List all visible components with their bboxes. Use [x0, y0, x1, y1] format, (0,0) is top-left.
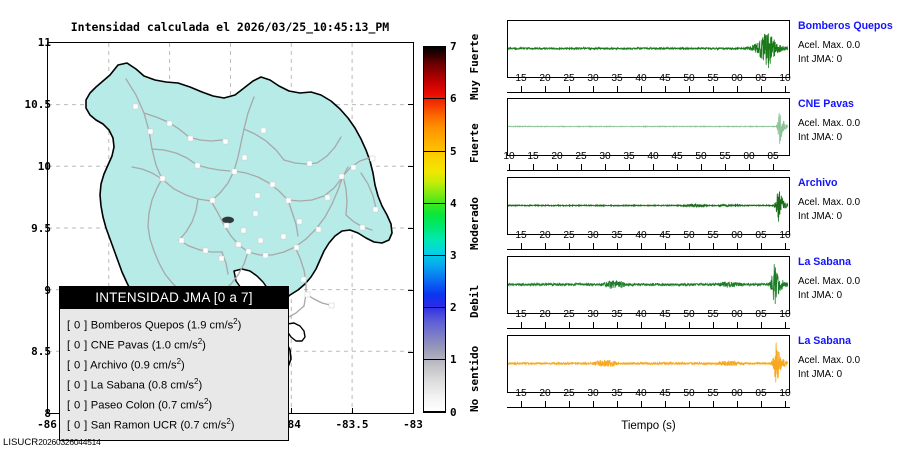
map-panel: Intensidad calculada el 2026/03/25_10:45…: [0, 0, 470, 460]
station-jma-intensity: Int JMA: 0: [798, 131, 910, 145]
seismogram-trace-3[interactable]: [507, 256, 790, 314]
axis-line: [507, 407, 790, 408]
waveform-polyline: [508, 33, 788, 68]
station-jma-intensity: Int JMA: 0: [798, 53, 910, 67]
footer-watermark: LISUCR20260326044514: [3, 437, 101, 448]
waveform-polyline: [508, 191, 788, 221]
xtick-label: 20: [539, 388, 550, 399]
station-max-accel: Acel. Max. 0.0: [798, 39, 910, 53]
seismogram-meta-4: La Sabana Acel. Max. 0.0 Int JMA: 0: [798, 335, 910, 381]
intensity-colorbar: [423, 46, 446, 412]
xtick-label: 40: [635, 388, 646, 399]
colorbar-category-no-sentido: No sentido: [468, 346, 481, 412]
legend-paren-close: ): [231, 420, 235, 432]
legend-intensity-bracket: [ 0 ]: [67, 340, 88, 352]
legend-intensity-bracket: [ 0 ]: [67, 400, 88, 412]
xtick-label: 10: [779, 73, 790, 84]
map-xtick-mark: [47, 408, 48, 414]
colorbar-tick-mark: [423, 98, 446, 99]
xtick-label: 05: [755, 73, 766, 84]
xtick-label: 30: [587, 73, 598, 84]
waveform-polyline: [508, 343, 788, 383]
xtick-label: 10: [779, 309, 790, 320]
colorbar-tick-label-4: 4: [450, 197, 457, 210]
xtick-label: 00: [731, 73, 742, 84]
map-xtick-label-5: -83.5: [335, 418, 368, 431]
seismogram-xaxis-3: 15 20 25 30 35 40 45 50 55 00 05 10: [507, 315, 790, 331]
colorbar-tick-label-1: 1: [450, 353, 457, 366]
seismogram-xaxis-2: 15 20 25 30 35 40 45 50 55 00 05 10: [507, 236, 790, 252]
seismogram-panel: 15 20 25 30 35 40 45 50 55 00 05 10 Bomb…: [500, 0, 910, 460]
xtick-label: 55: [719, 151, 730, 162]
seismogram-trace-2[interactable]: [507, 177, 790, 235]
xtick-label: 10: [503, 151, 514, 162]
map-ytick-mark: [408, 228, 414, 229]
xtick-label: 25: [563, 309, 574, 320]
legend-row: [ 0 ] Bomberos Quepos (1.9 cm/s2): [67, 314, 288, 334]
map-ytick-mark: [408, 104, 414, 105]
waveform-svg: [508, 178, 788, 233]
xtick-label: 35: [611, 309, 622, 320]
map-ytick-label-2: 9: [44, 284, 51, 297]
xtick-label: 00: [731, 230, 742, 241]
xtick-label: 30: [587, 388, 598, 399]
map-ytick-label-6: 11: [38, 36, 51, 49]
seismogram-trace-4[interactable]: [507, 335, 790, 393]
legend-accel-value: (1.9 cm/s: [187, 320, 233, 332]
xtick-label: 35: [611, 73, 622, 84]
xtick-label: 15: [515, 388, 526, 399]
legend-row: [ 0 ] Archivo (0.9 cm/s2): [67, 354, 288, 374]
xtick-label: 30: [599, 151, 610, 162]
xtick-label: 55: [707, 388, 718, 399]
seismogram-meta-1: CNE Pavas Acel. Max. 0.0 Int JMA: 0: [798, 98, 910, 144]
legend-accel-value: (1.0 cm/s: [152, 340, 198, 352]
legend-paren-close: ): [238, 320, 242, 332]
legend-paren-close: ): [198, 380, 202, 392]
legend-station-name: San Ramon UCR: [91, 420, 177, 432]
map-xtick-mark: [291, 408, 292, 414]
xtick-label: 15: [515, 309, 526, 320]
legend-row: [ 0 ] La Sabana (0.8 cm/s2): [67, 374, 288, 394]
legend-row: [ 0 ] Paseo Colon (0.7 cm/s2): [67, 394, 288, 414]
xtick-label: 25: [563, 388, 574, 399]
legend-intensity-bracket: [ 0 ]: [67, 320, 88, 332]
colorbar-category-fuerte: Fuerte: [468, 123, 481, 163]
xtick-label: 05: [767, 151, 778, 162]
station-name: La Sabana: [798, 256, 910, 269]
map-ytick-mark: [408, 290, 414, 291]
seismogram-xaxis-1: 10 15 20 25 30 35 40 45 50 55 00 05: [507, 157, 790, 173]
xtick-label: 55: [707, 309, 718, 320]
map-ytick-label-5: 10.5: [25, 98, 52, 111]
colorbar-tick-label-7: 7: [450, 40, 457, 53]
legend-station-name: Bomberos Quepos: [91, 320, 184, 332]
colorbar-tick-mark: [423, 255, 446, 256]
station-jma-intensity: Int JMA: 0: [798, 368, 910, 382]
xtick-label: 40: [647, 151, 658, 162]
axis-line: [507, 249, 790, 250]
xtick-label: 50: [695, 151, 706, 162]
xtick-label: 25: [575, 151, 586, 162]
colorbar-tick-label-3: 3: [450, 249, 457, 262]
intensity-legend-box: INTENSIDAD JMA [0 a 7] [ 0 ] Bomberos Qu…: [59, 286, 289, 441]
xtick-label: 45: [659, 230, 670, 241]
xtick-label: 50: [683, 73, 694, 84]
legend-intensity-bracket: [ 0 ]: [67, 420, 88, 432]
waveform-svg: [508, 257, 788, 312]
xtick-label: 10: [779, 230, 790, 241]
legend-paren-close: ): [181, 360, 185, 372]
intensity-colorbar-panel: 0 1 2 3 4 5 6 7 No sentido Debil Moderad…: [420, 0, 500, 460]
legend-station-name: La Sabana: [91, 380, 145, 392]
seismogram-xaxis-title: Tiempo (s): [507, 420, 790, 432]
xtick-label: 15: [515, 230, 526, 241]
colorbar-category-moderado: Moderado: [468, 197, 481, 250]
seismogram-meta-0: Bomberos Quepos Acel. Max. 0.0 Int JMA: …: [798, 20, 910, 66]
legend-row: [ 0 ] CNE Pavas (1.0 cm/s2): [67, 334, 288, 354]
seismogram-meta-3: La Sabana Acel. Max. 0.0 Int JMA: 0: [798, 256, 910, 302]
station-max-accel: Acel. Max. 0.0: [798, 275, 910, 289]
legend-station-name: Paseo Colon: [91, 400, 155, 412]
xtick-label: 20: [539, 73, 550, 84]
colorbar-category-muy-fuerte: Muy Fuerte: [468, 34, 481, 100]
colorbar-tick-mark: [423, 46, 446, 47]
seismogram-meta-2: Archivo Acel. Max. 0.0 Int JMA: 0: [798, 177, 910, 223]
colorbar-tick-mark: [423, 151, 446, 152]
xtick-label: 00: [743, 151, 754, 162]
xtick-label: 35: [611, 230, 622, 241]
colorbar-tick-label-2: 2: [450, 301, 457, 314]
colorbar-tick-mark: [423, 203, 446, 204]
xtick-label: 45: [659, 388, 670, 399]
xtick-label: 15: [527, 151, 538, 162]
legend-intensity-bracket: [ 0 ]: [67, 380, 88, 392]
xtick-label: 25: [563, 73, 574, 84]
colorbar-tick-mark: [423, 307, 446, 308]
station-name: Archivo: [798, 177, 910, 190]
map-xtick-mark: [413, 408, 414, 414]
xtick-label: 30: [587, 309, 598, 320]
xtick-label: 50: [683, 388, 694, 399]
map-xtick-mark: [352, 408, 353, 414]
xtick-label: 20: [539, 230, 550, 241]
legend-title: INTENSIDAD JMA [0 a 7]: [60, 287, 288, 309]
seismogram-xaxis-4: 15 20 25 30 35 40 45 50 55 00 05 10: [507, 394, 790, 410]
page-title: Intensidad calculada el 2026/03/25_10:45…: [0, 20, 460, 34]
legend-station-name: Archivo: [90, 360, 127, 372]
seismogram-trace-1[interactable]: [507, 98, 790, 156]
xtick-label: 00: [731, 309, 742, 320]
legend-station-name: CNE Pavas: [91, 340, 149, 352]
legend-accel-value: (0.7 cm/s: [180, 420, 226, 432]
xtick-label: 55: [707, 230, 718, 241]
station-name: Bomberos Quepos: [798, 20, 910, 33]
waveform-svg: [508, 336, 788, 391]
xtick-label: 40: [635, 73, 646, 84]
footer-org: LISUCR: [3, 437, 38, 448]
station-name: CNE Pavas: [798, 98, 910, 111]
xtick-label: 55: [707, 73, 718, 84]
xtick-label: 35: [611, 388, 622, 399]
map-ytick-mark: [408, 42, 414, 43]
seismogram-xaxis-0: 15 20 25 30 35 40 45 50 55 00 05 10: [507, 79, 790, 95]
station-max-accel: Acel. Max. 0.0: [798, 354, 910, 368]
colorbar-tick-label-0: 0: [450, 406, 457, 419]
colorbar-tick-label-6: 6: [450, 92, 457, 105]
xtick-label: 40: [635, 309, 646, 320]
xtick-label: 15: [515, 73, 526, 84]
station-jma-intensity: Int JMA: 0: [798, 210, 910, 224]
xtick-label: 45: [659, 73, 670, 84]
colorbar-category-debil: Debil: [468, 285, 481, 318]
legend-paren-close: ): [202, 340, 206, 352]
waveform-polyline: [508, 264, 788, 304]
axis-line: [507, 92, 790, 93]
colorbar-tick-label-5: 5: [450, 145, 457, 158]
map-ytick-label-4: 10: [38, 160, 51, 173]
xtick-label: 45: [659, 309, 670, 320]
xtick-label: 30: [587, 230, 598, 241]
xtick-label: 40: [635, 230, 646, 241]
legend-accel-value: (0.9 cm/s: [131, 360, 177, 372]
map-ytick-mark: [408, 166, 414, 167]
xtick-label: 05: [755, 230, 766, 241]
legend-intensity-bracket: [ 0 ]: [67, 360, 88, 372]
xtick-label: 10: [779, 388, 790, 399]
map-xtick-label-0: -86: [37, 418, 57, 431]
map-ytick-mark: [408, 352, 414, 353]
xtick-label: 20: [539, 309, 550, 320]
axis-line: [507, 328, 790, 329]
station-max-accel: Acel. Max. 0.0: [798, 117, 910, 131]
station-jma-intensity: Int JMA: 0: [798, 289, 910, 303]
waveform-svg: [508, 99, 788, 154]
seismogram-trace-0[interactable]: [507, 20, 790, 78]
station-max-accel: Acel. Max. 0.0: [798, 196, 910, 210]
xtick-label: 50: [683, 230, 694, 241]
legend-row: [ 0 ] San Ramon UCR (0.7 cm/s2): [67, 414, 288, 434]
xtick-label: 35: [623, 151, 634, 162]
xtick-label: 05: [755, 309, 766, 320]
xtick-label: 25: [563, 230, 574, 241]
footer-timestamp-code: 20260326044514: [38, 437, 100, 447]
map-ytick-label-1: 8.5: [31, 345, 51, 358]
legend-accel-value: (0.7 cm/s: [158, 400, 204, 412]
waveform-polyline: [508, 114, 788, 144]
xtick-label: 05: [755, 388, 766, 399]
xtick-label: 50: [683, 309, 694, 320]
map-ytick-label-3: 9.5: [31, 222, 51, 235]
axis-line: [507, 170, 790, 171]
waveform-svg: [508, 21, 788, 76]
xtick-label: 20: [551, 151, 562, 162]
legend-accel-value: (0.8 cm/s: [148, 380, 194, 392]
legend-paren-close: ): [208, 400, 212, 412]
xtick-label: 00: [731, 388, 742, 399]
colorbar-tick-mark: [423, 359, 446, 360]
colorbar-tick-mark: [423, 412, 446, 413]
xtick-label: 45: [671, 151, 682, 162]
station-name: La Sabana: [798, 335, 910, 348]
legend-station-list: [ 0 ] Bomberos Quepos (1.9 cm/s2) [ 0 ] …: [60, 309, 288, 440]
